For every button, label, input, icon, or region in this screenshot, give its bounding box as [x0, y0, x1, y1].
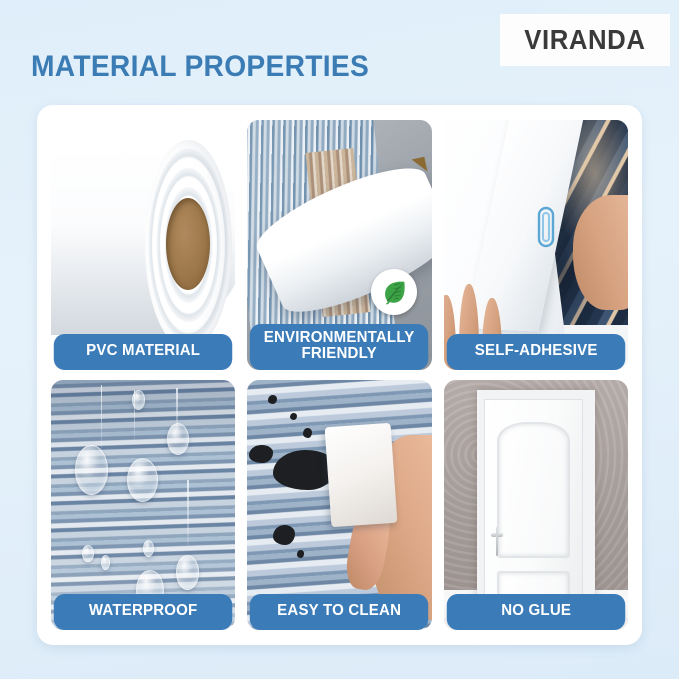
- page-title: MATERIAL PROPERTIES: [31, 50, 369, 84]
- card-label-pvc-material: PVC MATERIAL: [54, 334, 233, 370]
- feature-card-pvc-material[interactable]: PVC MATERIAL: [51, 120, 235, 370]
- self-adhesive-image: [444, 120, 628, 370]
- waterproof-image: [51, 380, 235, 630]
- easy-to-clean-image: [247, 380, 431, 630]
- card-label-line2: FRIENDLY: [302, 345, 377, 362]
- infographic-page: VIRANDA MATERIAL PROPERTIES PVC MATERIAL: [0, 0, 679, 679]
- feature-card-self-adhesive[interactable]: SELF-ADHESIVE: [444, 120, 628, 370]
- feature-card-waterproof[interactable]: WATERPROOF: [51, 380, 235, 630]
- card-label-self-adhesive: SELF-ADHESIVE: [446, 334, 625, 370]
- card-label-waterproof: WATERPROOF: [54, 594, 233, 630]
- no-glue-door-image: [444, 380, 628, 630]
- card-label-environmentally-friendly: ENVIRONMENTALLY FRIENDLY: [250, 324, 429, 370]
- card-label-easy-to-clean: EASY TO CLEAN: [250, 594, 429, 630]
- door-handle-icon: [491, 527, 504, 555]
- card-label-no-glue: NO GLUE: [446, 594, 625, 630]
- leaf-icon: [371, 269, 417, 315]
- feature-card-environmentally-friendly[interactable]: ENVIRONMENTALLY FRIENDLY: [247, 120, 431, 370]
- feature-card-easy-to-clean[interactable]: EASY TO CLEAN: [247, 380, 431, 630]
- brand-name: VIRANDA: [524, 24, 645, 56]
- brand-logo: VIRANDA: [500, 14, 670, 66]
- feature-card-no-glue[interactable]: NO GLUE: [444, 380, 628, 630]
- card-label-line1: ENVIRONMENTALLY: [264, 329, 415, 346]
- paperclip-icon: [536, 205, 556, 249]
- pvc-roll-image: [51, 120, 235, 370]
- feature-card-grid: PVC MATERIAL: [37, 105, 642, 645]
